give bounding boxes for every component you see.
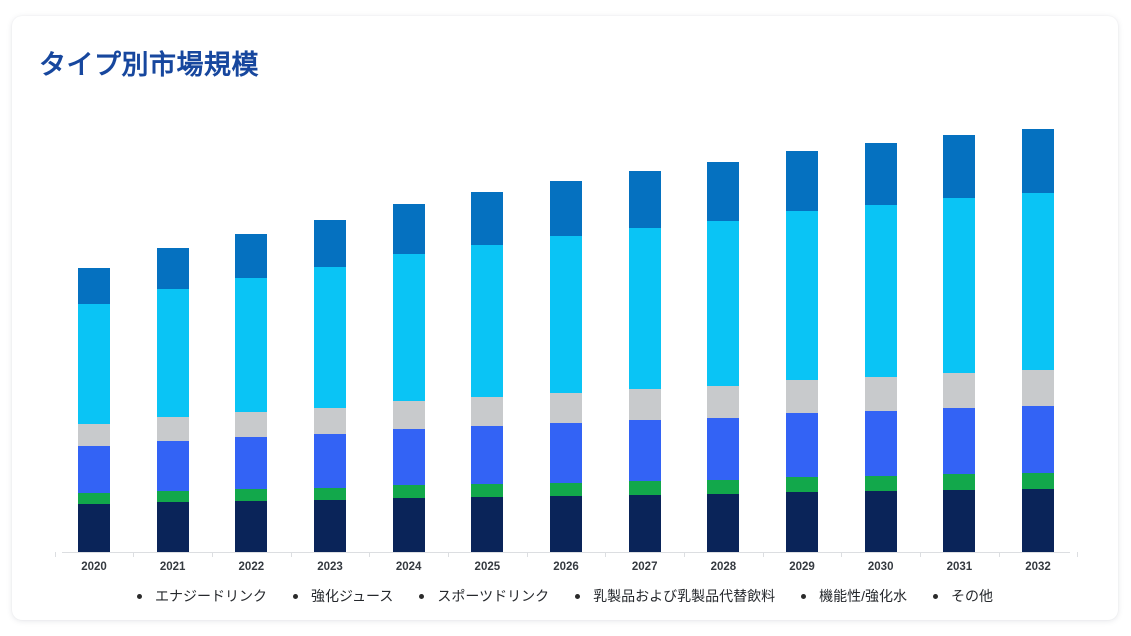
legend-item-label: その他 (951, 586, 993, 606)
x-axis-tick-label: 2031 (924, 561, 994, 573)
bar-segment[interactable] (707, 221, 739, 386)
bar-segment[interactable] (707, 418, 739, 480)
x-axis-tick-mark (999, 552, 1000, 557)
x-axis-tick-label: 2026 (531, 561, 601, 573)
x-axis-tick-label: 2024 (374, 561, 444, 573)
legend-bullet-icon (419, 594, 424, 599)
bar-segment[interactable] (629, 171, 661, 228)
bar-segment[interactable] (865, 205, 897, 377)
legend-item-label: 機能性/強化水 (819, 586, 907, 606)
x-axis-tick-label: 2028 (688, 561, 758, 573)
bar-segment[interactable] (157, 289, 189, 417)
x-axis-tick-mark (763, 552, 764, 557)
bar-segment[interactable] (78, 504, 110, 552)
x-axis-tick-mark (55, 552, 56, 557)
bar-segment[interactable] (157, 441, 189, 491)
bar-segment[interactable] (943, 198, 975, 373)
bar-segment[interactable] (157, 417, 189, 441)
chart-plot-area: 2020202120222023202420252026202720282029… (12, 16, 1118, 620)
bar-column[interactable] (943, 135, 975, 552)
bar-column[interactable] (550, 181, 582, 552)
bar-segment[interactable] (393, 485, 425, 498)
bar-segment[interactable] (471, 497, 503, 552)
chart-card: タイプ別市場規模 2020202120222023202420252026202… (12, 16, 1118, 620)
bar-segment[interactable] (943, 373, 975, 408)
bar-segment[interactable] (707, 162, 739, 221)
bar-segment[interactable] (550, 496, 582, 552)
bar-segment[interactable] (314, 488, 346, 500)
bar-segment[interactable] (786, 151, 818, 211)
legend-item[interactable]: 機能性/強化水 (801, 586, 907, 606)
bar-segment[interactable] (1022, 406, 1054, 473)
bar-segment[interactable] (865, 377, 897, 411)
bar-column[interactable] (629, 171, 661, 552)
x-axis-tick-mark (605, 552, 606, 557)
bar-segment[interactable] (1022, 129, 1054, 193)
bar-column[interactable] (235, 234, 267, 552)
legend-item[interactable]: スポーツドリンク (419, 586, 549, 606)
bar-segment[interactable] (235, 501, 267, 552)
x-axis-tick-mark (369, 552, 370, 557)
x-axis-tick-label: 2023 (295, 561, 365, 573)
bar-segment[interactable] (707, 386, 739, 418)
x-axis-tick-mark (920, 552, 921, 557)
legend-item-label: スポーツドリンク (437, 586, 549, 606)
bar-segment[interactable] (943, 135, 975, 198)
x-axis-tick-mark (212, 552, 213, 557)
bar-column[interactable] (393, 204, 425, 552)
bar-segment[interactable] (550, 483, 582, 496)
x-axis-tick-label: 2021 (138, 561, 208, 573)
bar-segment[interactable] (235, 234, 267, 278)
legend-item-label: 強化ジュース (311, 586, 393, 606)
bar-segment[interactable] (629, 228, 661, 389)
bar-segment[interactable] (865, 476, 897, 491)
bar-segment[interactable] (707, 480, 739, 494)
bar-segment[interactable] (471, 192, 503, 245)
bar-segment[interactable] (550, 181, 582, 236)
bar-segment[interactable] (865, 411, 897, 476)
bar-segment[interactable] (314, 220, 346, 267)
bar-segment[interactable] (235, 489, 267, 501)
bar-column[interactable] (471, 192, 503, 552)
x-axis-tick-label: 2029 (767, 561, 837, 573)
x-axis-tick-label: 2027 (610, 561, 680, 573)
bar-segment[interactable] (1022, 193, 1054, 370)
bar-column[interactable] (786, 151, 818, 552)
bar-segment[interactable] (629, 420, 661, 481)
bar-segment[interactable] (471, 245, 503, 397)
bar-segment[interactable] (314, 267, 346, 408)
x-axis-tick-mark (291, 552, 292, 557)
bar-segment[interactable] (157, 502, 189, 552)
legend-item[interactable]: その他 (933, 586, 993, 606)
bar-segment[interactable] (943, 490, 975, 552)
bar-segment[interactable] (1022, 370, 1054, 406)
bar-segment[interactable] (629, 481, 661, 495)
bar-column[interactable] (78, 268, 110, 552)
bar-segment[interactable] (393, 254, 425, 401)
bar-column[interactable] (1022, 129, 1054, 552)
bar-segment[interactable] (786, 477, 818, 492)
bar-segment[interactable] (943, 474, 975, 490)
bar-segment[interactable] (78, 424, 110, 446)
bar-segment[interactable] (78, 268, 110, 304)
legend-item[interactable]: 乳製品および乳製品代替飲料 (575, 586, 775, 606)
bar-segment[interactable] (786, 492, 818, 552)
bar-segment[interactable] (157, 248, 189, 289)
bar-segment[interactable] (393, 429, 425, 485)
bar-segment[interactable] (471, 484, 503, 497)
bar-column[interactable] (157, 248, 189, 552)
legend-bullet-icon (933, 594, 938, 599)
legend-item[interactable]: 強化ジュース (293, 586, 393, 606)
bar-segment[interactable] (314, 408, 346, 434)
bar-segment[interactable] (786, 380, 818, 413)
x-axis-tick-mark (1077, 552, 1078, 557)
bar-segment[interactable] (629, 389, 661, 420)
legend-bullet-icon (137, 594, 142, 599)
legend-bullet-icon (293, 594, 298, 599)
bar-segment[interactable] (550, 423, 582, 483)
x-axis-tick-label: 2022 (216, 561, 286, 573)
bar-segment[interactable] (471, 397, 503, 426)
x-axis-tick-label: 2030 (846, 561, 916, 573)
legend-bullet-icon (575, 594, 580, 599)
bar-segment[interactable] (78, 446, 110, 493)
bar-segment[interactable] (786, 211, 818, 380)
legend-item-label: 乳製品および乳製品代替飲料 (593, 586, 775, 606)
legend-item[interactable]: エナジードリンク (137, 586, 267, 606)
x-axis-tick-label: 2032 (1003, 561, 1073, 573)
bar-segment[interactable] (629, 495, 661, 552)
bar-segment[interactable] (235, 412, 267, 437)
x-axis-tick-mark (448, 552, 449, 557)
bar-segment[interactable] (943, 408, 975, 474)
bar-segment[interactable] (314, 500, 346, 552)
bar-segment[interactable] (393, 401, 425, 429)
bar-segment[interactable] (393, 204, 425, 254)
legend-bullet-icon (801, 594, 806, 599)
bar-segment[interactable] (314, 434, 346, 488)
legend-item-label: エナジードリンク (155, 586, 267, 606)
bar-segment[interactable] (786, 413, 818, 477)
x-axis-tick-mark (684, 552, 685, 557)
bar-segment[interactable] (78, 304, 110, 424)
x-axis-tick-label: 2025 (452, 561, 522, 573)
bar-column[interactable] (314, 220, 346, 552)
bar-segment[interactable] (550, 236, 582, 393)
bar-segment[interactable] (235, 278, 267, 412)
bar-segment[interactable] (393, 498, 425, 552)
x-axis-line (62, 552, 1070, 553)
bar-segment[interactable] (550, 393, 582, 423)
bar-segment[interactable] (157, 491, 189, 502)
bar-segment[interactable] (235, 437, 267, 489)
x-axis-tick-mark (133, 552, 134, 557)
bar-column[interactable] (707, 162, 739, 552)
bar-segment[interactable] (471, 426, 503, 484)
bar-column[interactable] (865, 143, 897, 552)
chart-legend: エナジードリンク強化ジューススポーツドリンク乳製品および乳製品代替飲料機能性/強… (12, 586, 1118, 606)
bar-segment[interactable] (1022, 473, 1054, 489)
bar-segment[interactable] (865, 491, 897, 552)
bar-segment[interactable] (1022, 489, 1054, 552)
bar-segment[interactable] (865, 143, 897, 205)
x-axis-tick-label: 2020 (59, 561, 129, 573)
x-axis-tick-mark (841, 552, 842, 557)
bar-segment[interactable] (707, 494, 739, 552)
x-axis-tick-mark (527, 552, 528, 557)
bar-segment[interactable] (78, 493, 110, 504)
